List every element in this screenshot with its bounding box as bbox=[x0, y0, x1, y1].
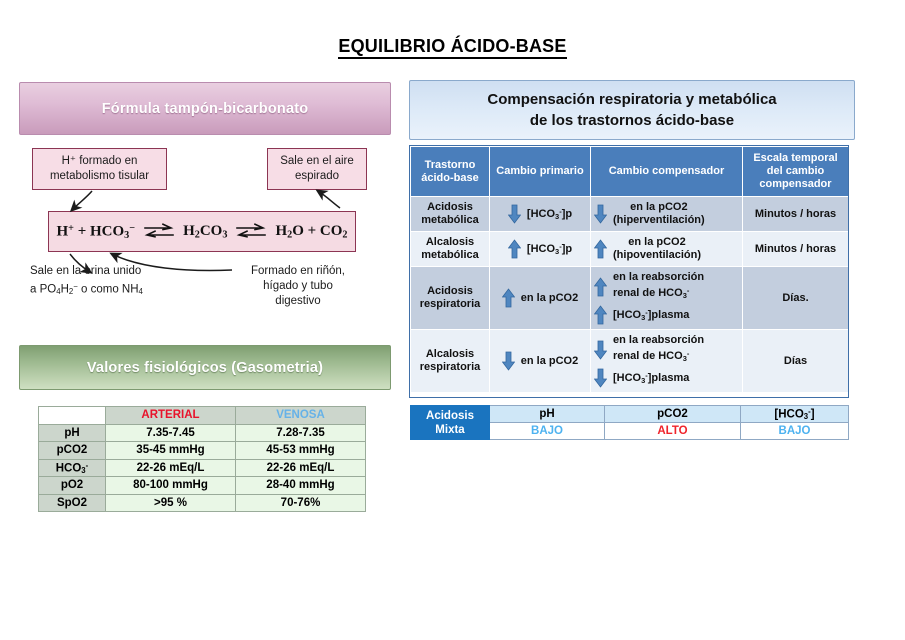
arrow-h-callout-to-equation bbox=[72, 191, 92, 210]
disorder-line2: respiratoria bbox=[420, 361, 481, 373]
callout-hydrogen-origin: H⁺ formado en metabolismo tisular bbox=[32, 148, 167, 190]
disorder-line2: metabólica bbox=[421, 214, 478, 226]
gasometry-venosa-value: 45-53 mmHg bbox=[236, 442, 366, 460]
disorder-line1: Acidosis bbox=[427, 201, 473, 213]
compensation-col-timescale: Escala temporaldel cambiocompensador bbox=[743, 147, 849, 197]
gasometry-col-arterial: ARTERIAL bbox=[106, 407, 236, 425]
gasometry-table: ARTERIAL VENOSA pH 7.35-7.45 7.28-7.35 p… bbox=[38, 406, 366, 512]
mixed-acidosis-label: Acidosis Mixta bbox=[411, 406, 490, 440]
gasometry-param: pO2 bbox=[39, 477, 106, 495]
formula-section-banner-label: Fórmula tampón-bicarbonato bbox=[102, 101, 309, 117]
gasometry-arterial-value: 7.35-7.45 bbox=[106, 424, 236, 442]
table-row: HCO3- 22-26 mEq/L 22-26 mEq/L bbox=[39, 459, 366, 477]
compensatory-text-line2: (hiperventilación) bbox=[613, 214, 705, 226]
gasometry-col-venosa: VENOSA bbox=[236, 407, 366, 425]
compensation-primary-change: [HCO3-]p bbox=[490, 232, 591, 267]
equation-term-middle: H2CO3 bbox=[183, 223, 227, 241]
compensation-table: Trastornoácido-base Cambio primario Camb… bbox=[410, 146, 849, 393]
table-row: pO2 80-100 mmHg 28-40 mmHg bbox=[39, 477, 366, 495]
arrow-up-icon bbox=[508, 239, 521, 259]
mixed-header-ph: pH bbox=[490, 406, 605, 423]
compensation-compensatory-change: en la reabsorción renal de HCO3- [HCO3-]… bbox=[591, 267, 743, 330]
callout-hydrogen-origin-text: H⁺ formado en metabolismo tisular bbox=[33, 154, 166, 184]
mixed-acidosis-table: Acidosis Mixta pH pCO2 [HCO3-] BAJO ALTO… bbox=[410, 405, 849, 440]
primary-change-text: en la pCO2 bbox=[521, 292, 578, 305]
callout-expired-air-text: Sale en el aire espirado bbox=[268, 154, 366, 184]
mixed-label-line2: Mixta bbox=[435, 424, 464, 436]
table-row: Acidosis Mixta pH pCO2 [HCO3-] bbox=[411, 406, 849, 423]
gasometry-section-banner-label: Valores fisiológicos (Gasometria) bbox=[87, 360, 323, 376]
arrow-equation-to-air-callout bbox=[318, 191, 340, 208]
compensation-timescale: Minutos / horas bbox=[743, 197, 849, 232]
compensation-primary-change: [HCO3-]p bbox=[490, 197, 591, 232]
primary-change-text: [HCO3-]p bbox=[527, 240, 572, 258]
compensatory-text: en la reabsorción renal de HCO3- bbox=[613, 334, 704, 365]
compensation-header-row: Trastornoácido-base Cambio primario Camb… bbox=[411, 147, 849, 197]
mixed-header-pco2: pCO2 bbox=[605, 406, 741, 423]
compensatory-text-line2: renal de HCO3- bbox=[613, 287, 689, 299]
table-row: SpO2 >95 % 70-76% bbox=[39, 494, 366, 512]
compensation-compensatory-change: en la reabsorción renal de HCO3- [HCO3-]… bbox=[591, 330, 743, 393]
compensatory-text: en la pCO2 (hiperventilación) bbox=[613, 201, 705, 227]
arrow-up-icon bbox=[502, 288, 515, 308]
gasometry-arterial-value: 35-45 mmHg bbox=[106, 442, 236, 460]
compensation-section-banner: Compensación respiratoria y metabólica d… bbox=[409, 80, 855, 140]
arrow-down-icon bbox=[502, 351, 515, 371]
compensation-compensatory-change: en la pCO2 (hipoventilación) bbox=[591, 232, 743, 267]
table-row: pH 7.35-7.45 7.28-7.35 bbox=[39, 424, 366, 442]
mixed-label-line1: Acidosis bbox=[426, 410, 474, 422]
gasometry-arterial-value: 80-100 mmHg bbox=[106, 477, 236, 495]
arrow-down-icon bbox=[594, 204, 607, 224]
callout-expired-air: Sale en el aire espirado bbox=[267, 148, 367, 190]
compensation-disorder: Alcalosis metabólica bbox=[411, 232, 490, 267]
disorder-line1: Acidosis bbox=[427, 285, 473, 297]
equation-term-left: H+ + HCO3− bbox=[56, 223, 135, 241]
gasometry-param: HCO3- bbox=[39, 459, 106, 477]
compensation-col-primary: Cambio primario bbox=[490, 147, 591, 197]
gasometry-venosa-value: 28-40 mmHg bbox=[236, 477, 366, 495]
table-row: Alcalosis respiratoria en la pCO2 bbox=[411, 330, 849, 393]
compensatory-text-line1: en la pCO2 bbox=[628, 236, 685, 248]
table-row: Acidosis metabólica [HCO3-]p bbox=[411, 197, 849, 232]
gasometry-arterial-value: >95 % bbox=[106, 494, 236, 512]
equilibrium-arrow-icon bbox=[144, 223, 174, 240]
compensatory-text: en la reabsorción renal de HCO3- bbox=[613, 271, 704, 302]
compensatory-text-line2: renal de HCO3- bbox=[613, 350, 689, 362]
gasometry-arterial-value: 22-26 mEq/L bbox=[106, 459, 236, 477]
gasometry-param: SpO2 bbox=[39, 494, 106, 512]
compensation-primary-change: en la pCO2 bbox=[490, 330, 591, 393]
table-row: pCO2 35-45 mmHg 45-53 mmHg bbox=[39, 442, 366, 460]
compensatory-text-2: [HCO3-]plasma bbox=[613, 369, 689, 387]
primary-change-text: en la pCO2 bbox=[521, 355, 578, 368]
arrow-up-icon bbox=[594, 277, 607, 297]
compensation-banner-line1: Compensación respiratoria y metabólica bbox=[487, 89, 776, 110]
compensation-disorder: Acidosis metabólica bbox=[411, 197, 490, 232]
gasometry-header-row: ARTERIAL VENOSA bbox=[39, 407, 366, 425]
equation-term-right: H2O + CO2 bbox=[275, 223, 347, 241]
gasometry-section-banner: Valores fisiológicos (Gasometria) bbox=[19, 345, 391, 390]
compensatory-text-line2: (hipoventilación) bbox=[613, 249, 701, 261]
arrow-down-icon bbox=[594, 368, 607, 388]
compensation-banner-line2: de los trastornos ácido-base bbox=[530, 110, 734, 131]
mixed-value-ph: BAJO bbox=[490, 423, 605, 440]
arrow-up-icon bbox=[594, 305, 607, 325]
table-row: Alcalosis metabólica [HCO3-]p bbox=[411, 232, 849, 267]
arrow-up-icon bbox=[594, 239, 607, 259]
compensation-timescale: Días bbox=[743, 330, 849, 393]
compensatory-text-line1: en la reabsorción bbox=[613, 334, 704, 346]
disorder-line1: Alcalosis bbox=[426, 236, 474, 248]
bicarbonate-buffer-equation: H+ + HCO3− H2CO3 H2O + CO2 bbox=[48, 211, 356, 252]
gasometry-param: pCO2 bbox=[39, 442, 106, 460]
gasometry-col-blank bbox=[39, 407, 106, 425]
mixed-value-pco2: ALTO bbox=[605, 423, 741, 440]
gasometry-venosa-value: 70-76% bbox=[236, 494, 366, 512]
equation-content: H+ + HCO3− H2CO3 H2O + CO2 bbox=[56, 223, 347, 241]
arrow-down-icon bbox=[594, 340, 607, 360]
compensatory-text-line1: en la reabsorción bbox=[613, 271, 704, 283]
table-row: Acidosis respiratoria en la pCO2 bbox=[411, 267, 849, 330]
compensation-disorder: Alcalosis respiratoria bbox=[411, 330, 490, 393]
page-title: EQUILIBRIO ÁCIDO-BASE bbox=[0, 36, 905, 57]
primary-change-text: [HCO3-]p bbox=[527, 205, 572, 223]
formula-section-banner: Fórmula tampón-bicarbonato bbox=[19, 82, 391, 135]
gasometry-param: pH bbox=[39, 424, 106, 442]
compensatory-text-2: [HCO3-]plasma bbox=[613, 306, 689, 324]
compensation-compensatory-change: en la pCO2 (hiperventilación) bbox=[591, 197, 743, 232]
disorder-line2: respiratoria bbox=[420, 298, 481, 310]
page-title-text: EQUILIBRIO ÁCIDO-BASE bbox=[338, 36, 566, 59]
disorder-line2: metabólica bbox=[421, 249, 478, 261]
note-kidney-formation: Formado en riñón,hígado y tubodigestivo bbox=[233, 264, 363, 309]
mixed-header-hco3: [HCO3-] bbox=[741, 406, 849, 423]
poster-canvas: EQUILIBRIO ÁCIDO-BASE Fórmula tampón-bic… bbox=[0, 0, 905, 640]
compensation-timescale: Minutos / horas bbox=[743, 232, 849, 267]
compensation-disorder: Acidosis respiratoria bbox=[411, 267, 490, 330]
gasometry-venosa-value: 7.28-7.35 bbox=[236, 424, 366, 442]
equilibrium-arrow-icon-2 bbox=[236, 223, 266, 240]
compensation-timescale: Días. bbox=[743, 267, 849, 330]
mixed-value-hco3: BAJO bbox=[741, 423, 849, 440]
compensation-primary-change: en la pCO2 bbox=[490, 267, 591, 330]
compensatory-text-line1: en la pCO2 bbox=[630, 201, 687, 213]
disorder-line1: Alcalosis bbox=[426, 348, 474, 360]
compensation-col-disorder: Trastornoácido-base bbox=[411, 147, 490, 197]
compensation-col-compensator: Cambio compensador bbox=[591, 147, 743, 197]
arrow-down-icon bbox=[508, 204, 521, 224]
note-urine-excretion: Sale en la orina unidoa PO4H2− o como NH… bbox=[30, 264, 195, 299]
gasometry-venosa-value: 22-26 mEq/L bbox=[236, 459, 366, 477]
compensatory-text: en la pCO2 (hipoventilación) bbox=[613, 236, 701, 262]
